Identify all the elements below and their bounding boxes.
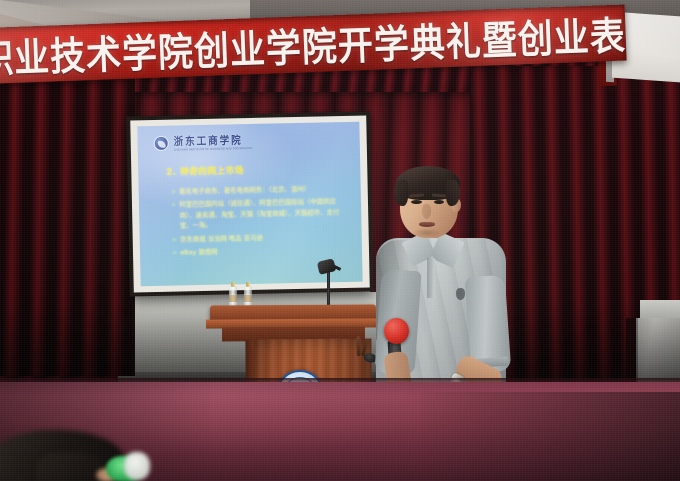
list-item: ➢ eBay 敦煌网 <box>172 244 352 258</box>
slide-bullet-text: 著名电子商务、著名电商网务：（北京、温州） <box>179 184 310 197</box>
mouth <box>419 222 435 227</box>
eye <box>434 200 444 204</box>
eye <box>411 200 422 204</box>
slide-bullet-list: ➢ 著名电子商务、著名电商网务：（北京、温州） ➢ 阿里巴巴国内站（诚信通）、阿… <box>171 183 352 258</box>
shirt-chest-logo-icon <box>456 288 465 300</box>
hair-sideburn <box>394 180 408 206</box>
slide-bullet-text: eBay 敦煌网 <box>180 247 217 258</box>
slide-bullet-text: 京东商城 当当网 唯品 亚马逊 <box>180 232 263 244</box>
list-item: ➢ 著名电子商务、著名电商网务：（北京、温州） <box>171 183 351 197</box>
slide-bullet-text: 阿里巴巴国内站（诚信通）、阿里巴巴国际站（中国供应商）、速卖通、淘宝、天猫（淘宝… <box>179 196 351 231</box>
chin-shadow <box>412 228 442 238</box>
list-item: ➢ 阿里巴巴国内站（诚信通）、阿里巴巴国际站（中国供应商）、速卖通、淘宝、天猫（… <box>171 196 352 231</box>
bullet-arrow-icon: ➢ <box>172 247 178 257</box>
foreground-white-object <box>124 452 150 480</box>
bullet-arrow-icon: ➢ <box>171 187 177 197</box>
photo-scene: 职业技术学院创业学院开学典礼暨创业表彰大会 浙东工商学院 ZHEJIANG IN… <box>0 0 680 481</box>
shirt-placket <box>427 258 435 298</box>
microphone-head-icon <box>384 318 409 344</box>
nose <box>422 204 431 219</box>
institution-seal-icon <box>154 135 169 150</box>
slide-logo-text-block: 浙东工商学院 ZHEJIANG INSTITUTE OF BUSINESS AN… <box>174 132 253 152</box>
carpet-shadow-right <box>420 392 680 481</box>
list-item: ➢ 京东商城 当当网 唯品 亚马逊 <box>172 230 352 244</box>
bullet-arrow-icon: ➢ <box>171 200 177 231</box>
sunglasses-temple <box>356 336 361 356</box>
bullet-arrow-icon: ➢ <box>172 234 178 244</box>
slide-logo-cn: 浙东工商学院 <box>173 131 252 149</box>
slide-institution-logo: 浙东工商学院 ZHEJIANG INSTITUTE OF BUSINESS AN… <box>154 130 350 152</box>
slide-title: 2. 神奇的网上市场 <box>166 162 350 178</box>
